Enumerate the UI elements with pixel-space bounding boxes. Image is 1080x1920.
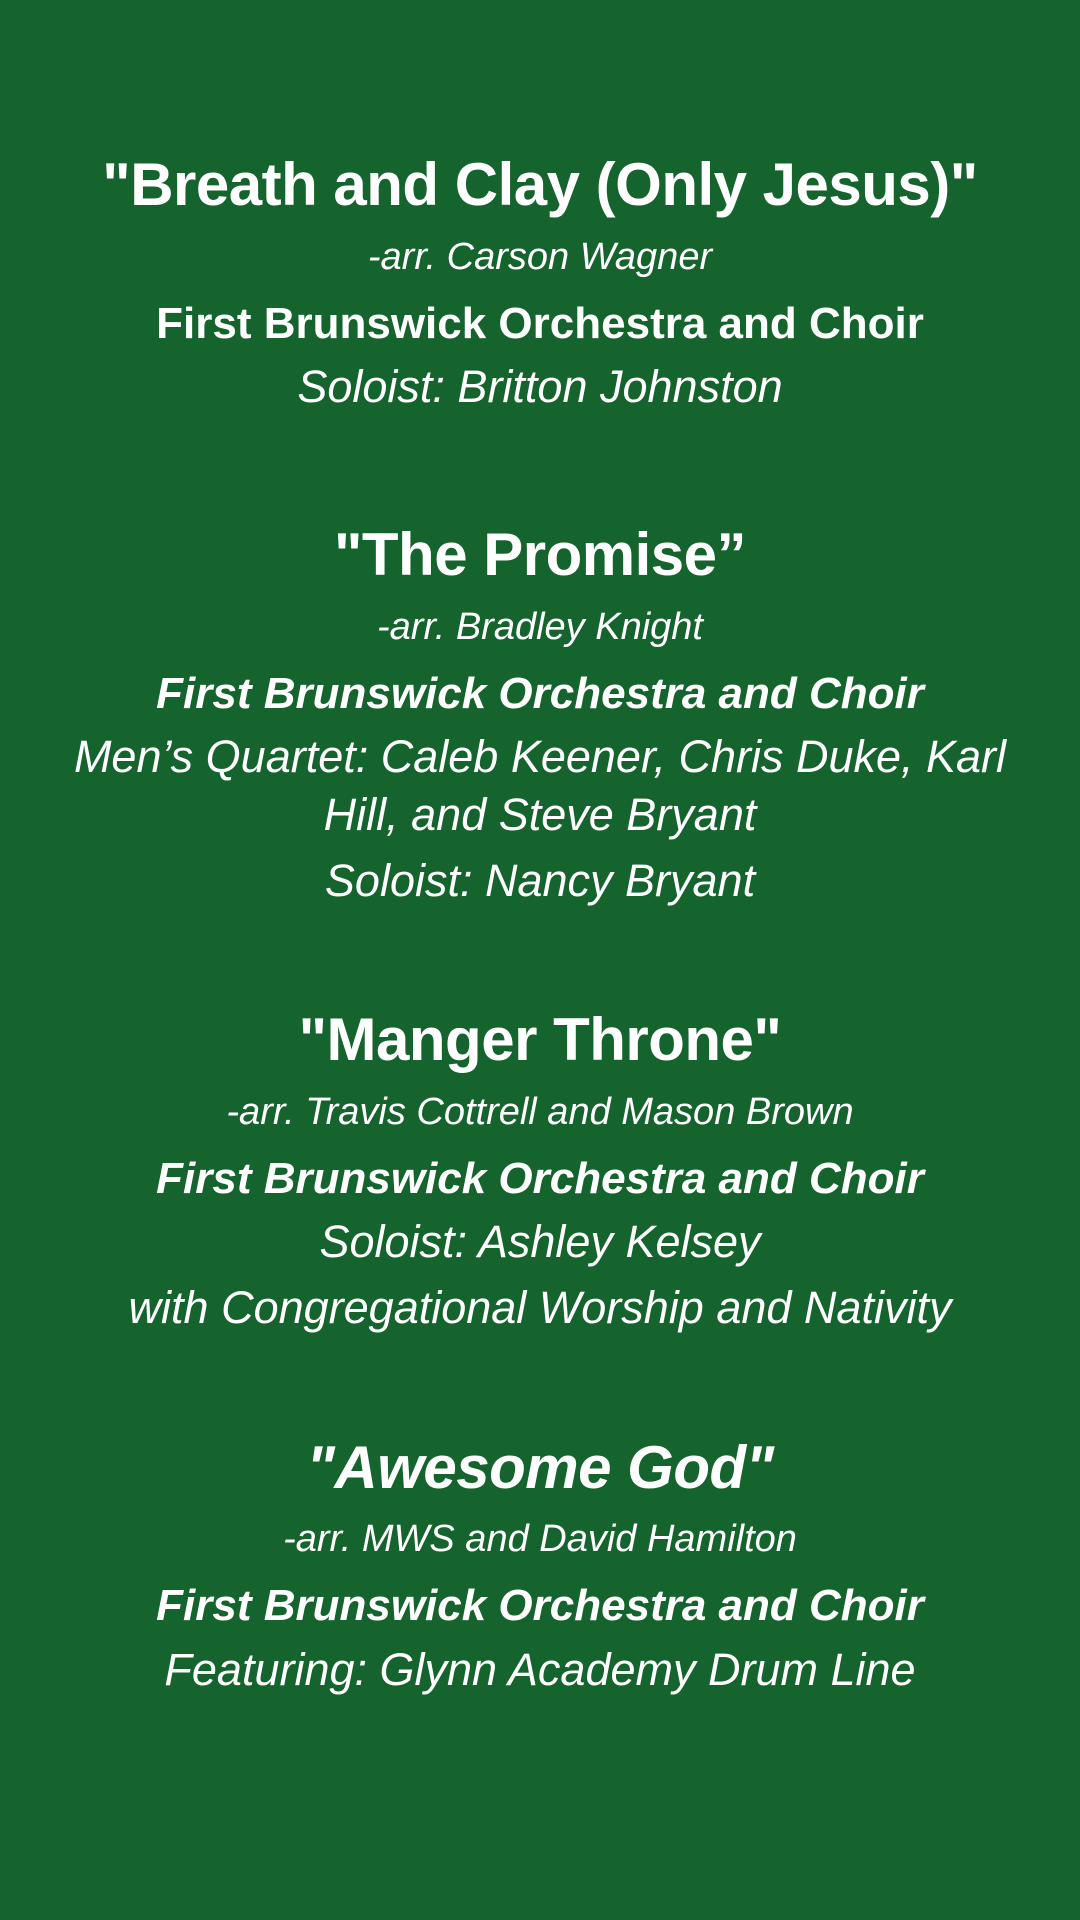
song-performer: with Congregational Worship and Nativity — [24, 1279, 1056, 1337]
song-arranger: -arr. Travis Cottrell and Mason Brown — [24, 1085, 1056, 1140]
song-title: "The Promise” — [24, 520, 1056, 590]
song-title: "Manger Throne" — [24, 1005, 1056, 1075]
song-performer: Men’s Quartet: Caleb Keener, Chris Duke,… — [24, 728, 1056, 843]
song-ensemble: First Brunswick Orchestra and Choir — [24, 667, 1056, 721]
song-arranger: -arr. Bradley Knight — [24, 600, 1056, 655]
song-entry: "Breath and Clay (Only Jesus)" -arr. Car… — [24, 150, 1056, 416]
song-arranger: -arr. MWS and David Hamilton — [24, 1512, 1056, 1567]
song-performer: Soloist: Nancy Bryant — [24, 852, 1056, 910]
song-entry: "Awesome God" -arr. MWS and David Hamilt… — [24, 1433, 1056, 1699]
song-ensemble: First Brunswick Orchestra and Choir — [24, 297, 1056, 351]
song-title: "Awesome God" — [24, 1433, 1056, 1503]
song-entry: "The Promise” -arr. Bradley Knight First… — [24, 520, 1056, 909]
song-ensemble: First Brunswick Orchestra and Choir — [24, 1579, 1056, 1633]
song-entry: "Manger Throne" -arr. Travis Cottrell an… — [24, 1005, 1056, 1337]
song-ensemble: First Brunswick Orchestra and Choir — [24, 1152, 1056, 1206]
song-performer: Soloist: Britton Johnston — [24, 358, 1056, 416]
song-performer: Soloist: Ashley Kelsey — [24, 1213, 1056, 1271]
program-slide: "Breath and Clay (Only Jesus)" -arr. Car… — [0, 0, 1080, 1920]
song-title: "Breath and Clay (Only Jesus)" — [24, 150, 1056, 220]
song-arranger: -arr. Carson Wagner — [24, 230, 1056, 285]
song-performer: Featuring: Glynn Academy Drum Line — [24, 1641, 1056, 1699]
